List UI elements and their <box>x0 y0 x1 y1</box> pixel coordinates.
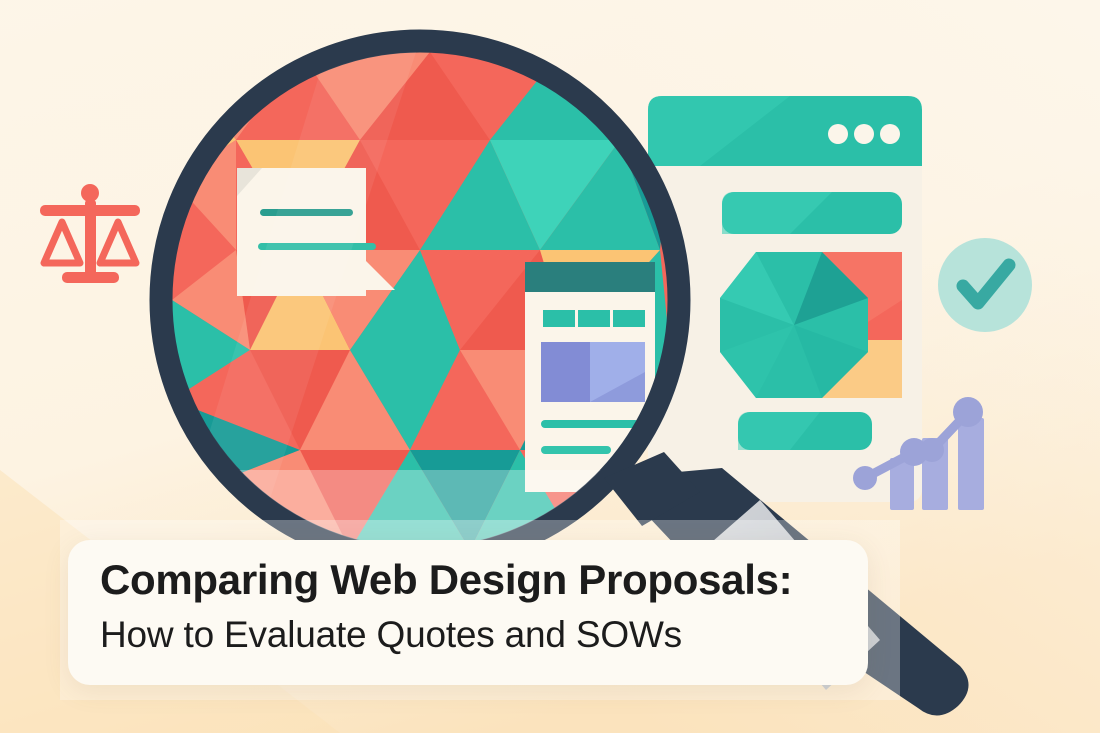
tab-2 <box>578 310 610 327</box>
data-point-3 <box>920 438 944 462</box>
title-card <box>68 540 868 685</box>
dot-2 <box>854 124 874 144</box>
check-circle-icon <box>938 238 1032 332</box>
hero-banner: Comparing Web Design Proposals: How to E… <box>0 0 1100 733</box>
doc-line-2 <box>541 446 611 454</box>
tab-3 <box>613 310 645 327</box>
dot-1 <box>828 124 848 144</box>
data-point-1 <box>853 466 877 490</box>
dot-3 <box>880 124 900 144</box>
doc-line-1 <box>541 420 639 428</box>
bar-3 <box>958 418 984 510</box>
data-point-4 <box>953 397 983 427</box>
tab-1 <box>543 310 575 327</box>
